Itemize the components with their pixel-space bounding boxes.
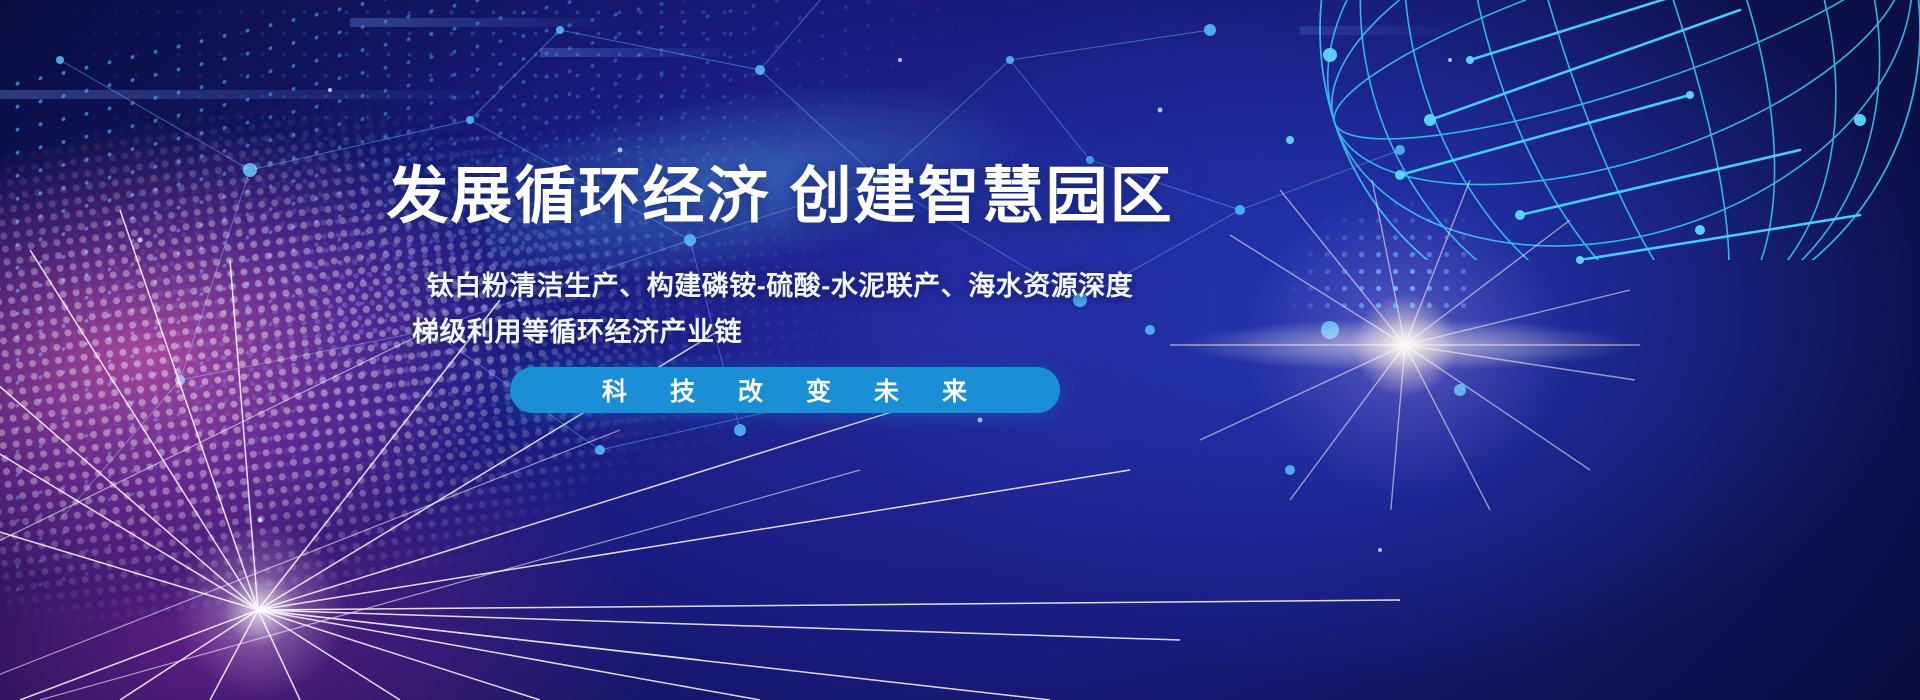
cta-char-3: 改 xyxy=(738,372,764,408)
cta-char-1: 科 xyxy=(602,372,628,408)
page-title: 发展循环经济 创建智慧园区 xyxy=(0,166,1560,228)
subtitle-line-2: 梯级利用等循环经济产业链 xyxy=(0,310,1560,349)
subtitle-line-1: 钛白粉清洁生产、构建磷铵-硫酸-水泥联产、海水资源深度 xyxy=(0,264,1560,303)
hero-banner: 发展循环经济 创建智慧园区 钛白粉清洁生产、构建磷铵-硫酸-水泥联产、海水资源深… xyxy=(0,0,1920,700)
cta-button[interactable]: 科 技 改 变 未 来 xyxy=(510,367,1060,413)
cta-char-6: 来 xyxy=(942,372,968,408)
cta-char-2: 技 xyxy=(670,372,696,408)
cta-char-5: 未 xyxy=(874,372,900,408)
cta-char-4: 变 xyxy=(806,372,832,408)
subtitle-line-2-text: 梯级利用等循环经济产业链 xyxy=(412,310,742,349)
